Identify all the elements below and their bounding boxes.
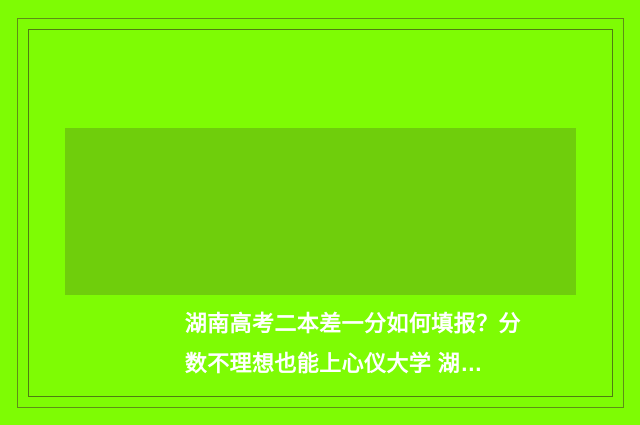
headline-banner: 湖南高考二本差一分如何填报？分 数不理想也能上心仪大学 湖… [65,128,576,295]
headline-line-1: 湖南高考二本差一分如何填报？分 [185,304,585,344]
headline-text: 湖南高考二本差一分如何填报？分 数不理想也能上心仪大学 湖… [185,304,585,384]
headline-line-2: 数不理想也能上心仪大学 湖… [185,344,585,384]
screenshot-canvas: 湖南高考二本差一分如何填报？分 数不理想也能上心仪大学 湖… [0,0,640,425]
